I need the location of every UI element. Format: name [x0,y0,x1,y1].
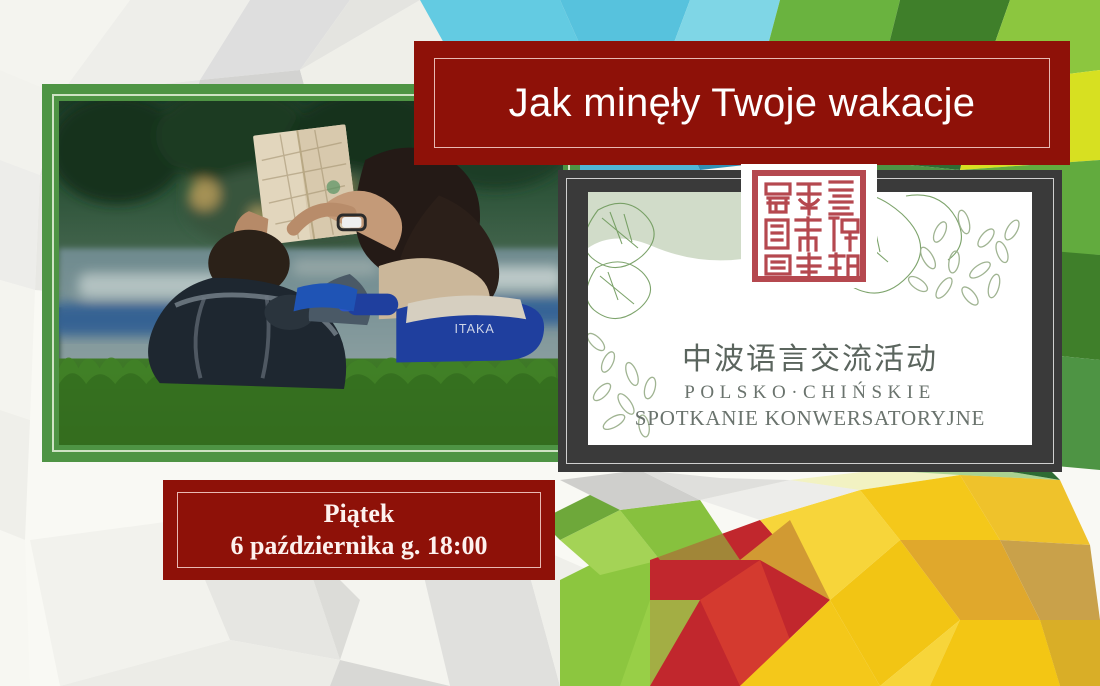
chinese-seal-stamp [741,164,877,288]
card-chinese-title: 中波语言交流活动 [588,342,1032,378]
card-text-block: 中波语言交流活动 POLSKO·CHIŃSKIE SPOTKANIE KONWE… [588,342,1032,431]
seal-icon [750,170,868,282]
event-date-time: 6 października g. 18:00 [230,530,487,563]
title-banner: Jak minęły Twoje wakacje [414,41,1070,165]
event-day: Piątek [230,498,487,531]
card-polish-line1: POLSKO·CHIŃSKIE [588,382,1032,404]
poster-title: Jak minęły Twoje wakacje [509,81,976,126]
poster-canvas: ITAKA [0,0,1100,686]
card-polish-line2: SPOTKANIE KONWERSATORYJNE [588,406,1032,431]
svg-text:ITAKA: ITAKA [454,322,494,336]
event-datetime: Piątek 6 października g. 18:00 [230,498,487,563]
date-banner: Piątek 6 października g. 18:00 [163,480,555,580]
